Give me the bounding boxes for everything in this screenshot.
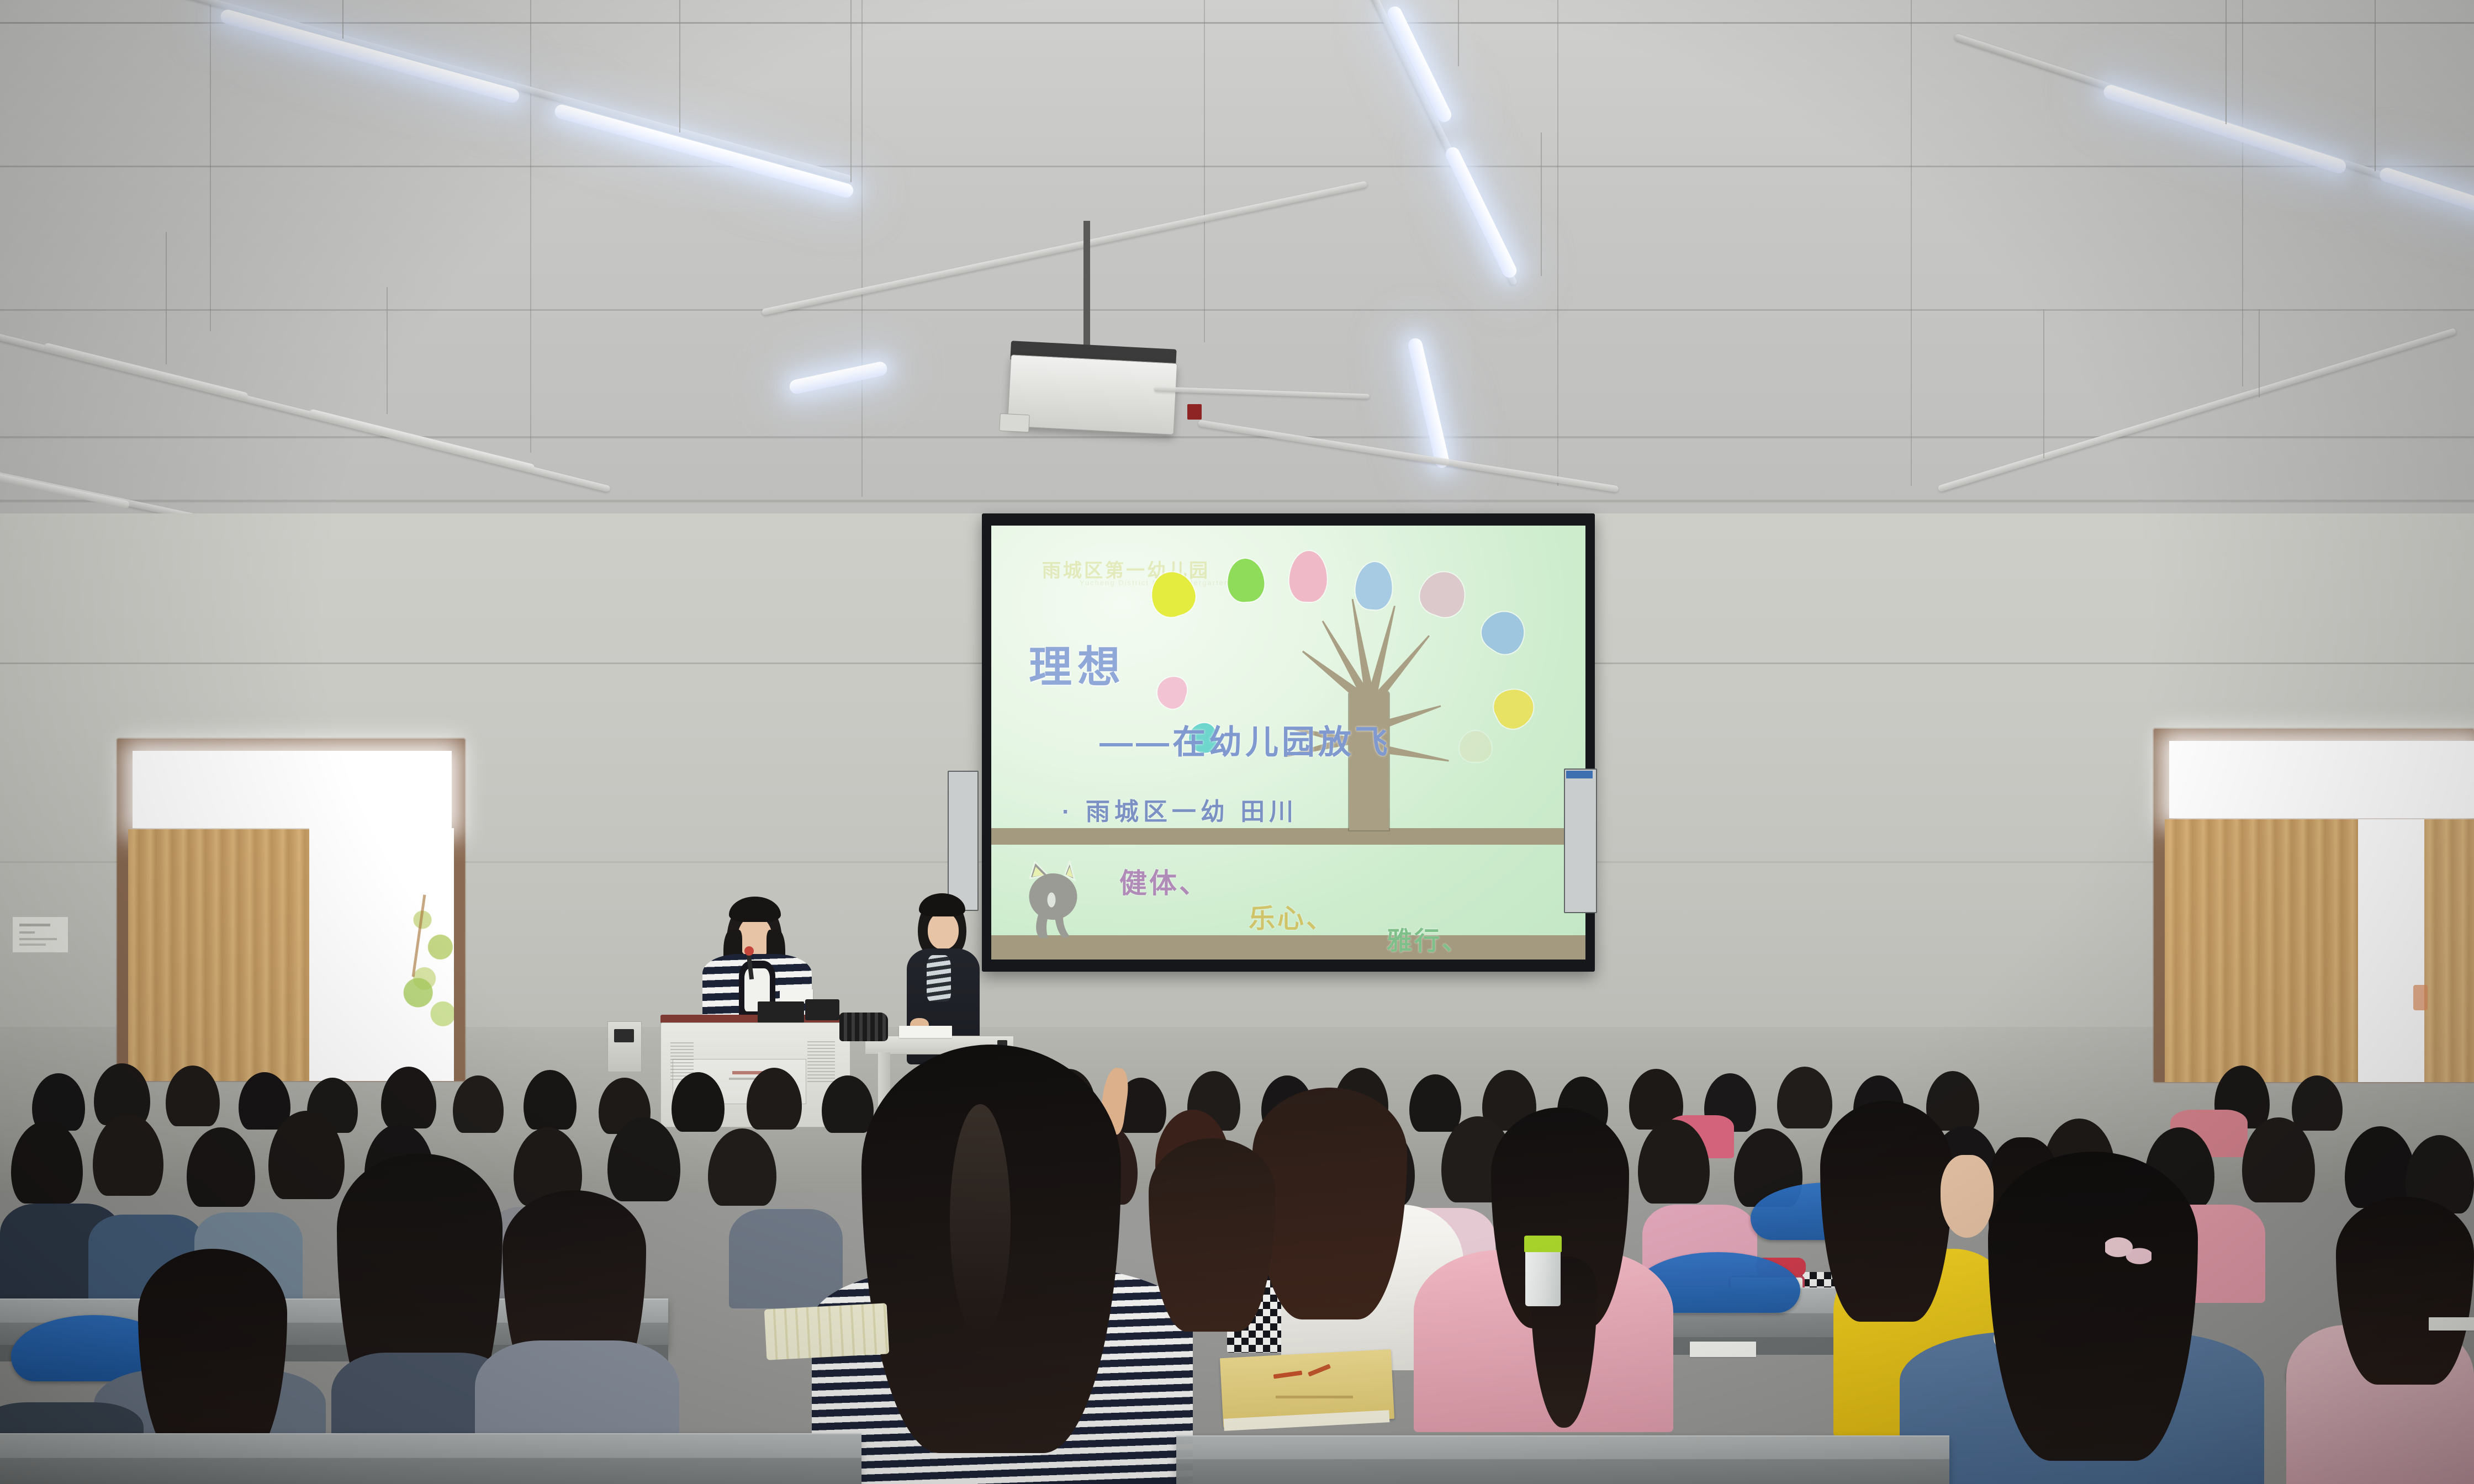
ceiling-seam-v bbox=[1557, 0, 1558, 486]
foreground-hair-highlight bbox=[950, 1104, 1011, 1336]
slide-leaf bbox=[1288, 550, 1328, 602]
slide-leaf bbox=[1354, 561, 1394, 611]
notebook-text-line bbox=[1276, 1396, 1353, 1398]
ceiling-seam-v bbox=[1911, 0, 1912, 486]
foreground-hair bbox=[1820, 1101, 1953, 1322]
light-hanger bbox=[2259, 309, 2260, 397]
light-hanger bbox=[2375, 0, 2376, 171]
window-glass-right bbox=[2358, 819, 2474, 1082]
projected-slide: 雨城区第一幼儿园 Yucheng District No.1 Kindergar… bbox=[991, 526, 1585, 960]
foreground-hair bbox=[1252, 1088, 1407, 1319]
ceiling-seam bbox=[0, 166, 2474, 167]
window-transom-left bbox=[133, 751, 452, 828]
desk-pouch bbox=[764, 1303, 890, 1360]
light-hanger bbox=[2225, 0, 2227, 124]
foreground-hair bbox=[1149, 1138, 1276, 1332]
side-presenter-scarf bbox=[927, 955, 951, 1001]
av-cabinet-screen bbox=[614, 1029, 634, 1042]
desk-row bbox=[0, 1433, 861, 1484]
projector bbox=[1007, 354, 1177, 435]
desk-equipment-black bbox=[839, 1013, 888, 1041]
ceiling-seam bbox=[0, 22, 2474, 24]
light-hanger bbox=[2043, 309, 2044, 458]
curtain-left bbox=[128, 829, 310, 1081]
projector-lens bbox=[999, 414, 1030, 433]
light-hanger bbox=[679, 0, 680, 132]
light-hanger bbox=[387, 287, 388, 414]
ceiling-seam-v bbox=[210, 0, 211, 331]
ceiling-seam-v bbox=[530, 0, 531, 453]
light-hanger bbox=[342, 0, 343, 39]
ceiling-seam bbox=[0, 500, 2474, 502]
slide-motto-3: 雅行、 bbox=[1387, 921, 1469, 957]
foreground-hair bbox=[1988, 1152, 2198, 1461]
wall-panel-left bbox=[948, 771, 979, 911]
slide-ground-band bbox=[991, 828, 1585, 845]
light-hanger bbox=[1541, 132, 1542, 276]
side-table-paper bbox=[899, 1026, 952, 1038]
slide-leaf bbox=[1415, 566, 1472, 623]
desk-paper bbox=[2429, 1317, 2474, 1331]
ceiling-seam-v bbox=[861, 0, 863, 497]
window-glass-left bbox=[309, 828, 454, 1081]
slide-leaf bbox=[1154, 673, 1190, 712]
butterfly-hair-clip bbox=[2105, 1236, 2151, 1270]
microphone-head bbox=[744, 946, 754, 956]
foreground-hair bbox=[2336, 1197, 2474, 1385]
wall-notice bbox=[12, 916, 68, 953]
ceiling-seam-v bbox=[2242, 0, 2243, 386]
ceiling-seam bbox=[0, 309, 2474, 311]
slide-motto-2: 乐心、 bbox=[1249, 897, 1335, 935]
light-hanger bbox=[166, 232, 167, 364]
slide-title: 理想 bbox=[1029, 633, 1126, 695]
ceiling-seam-v bbox=[1204, 0, 1205, 342]
desk-paper bbox=[1690, 1342, 1756, 1357]
podium-monitor bbox=[758, 1001, 804, 1022]
wall-panel-right bbox=[1564, 768, 1597, 913]
slide-leaf bbox=[1226, 558, 1265, 603]
slide-leaf bbox=[1460, 731, 1492, 762]
red-indicator bbox=[1187, 404, 1202, 420]
slide-presenter: · 雨城区一幼 田川 bbox=[1062, 792, 1298, 827]
slide-leaf bbox=[1488, 682, 1540, 734]
projector-mount bbox=[1083, 221, 1090, 359]
curtain-right bbox=[2165, 819, 2359, 1082]
podium-vent bbox=[807, 1041, 835, 1083]
foreground-hair bbox=[138, 1249, 287, 1464]
slide-subtitle: ——在幼儿园放飞 bbox=[1099, 715, 1391, 764]
light-hanger bbox=[1458, 0, 1459, 66]
window-transom-right bbox=[2169, 741, 2474, 818]
podium-tablet bbox=[805, 999, 839, 1020]
foreground-face bbox=[1941, 1155, 1994, 1238]
side-presenter-face bbox=[928, 912, 959, 950]
audience-clothing bbox=[729, 1209, 843, 1308]
desk-row bbox=[1176, 1435, 1949, 1484]
water-bottle bbox=[1525, 1247, 1561, 1306]
bottle-cap bbox=[1524, 1236, 1562, 1252]
slide-leaf bbox=[1475, 603, 1532, 661]
lecture-hall-photo: 雨城区第一幼儿园 Yucheng District No.1 Kindergar… bbox=[0, 0, 2474, 1484]
light-hanger bbox=[850, 0, 852, 182]
slide-motto-1: 健体、 bbox=[1119, 861, 1209, 901]
cat-icon bbox=[1020, 860, 1103, 946]
